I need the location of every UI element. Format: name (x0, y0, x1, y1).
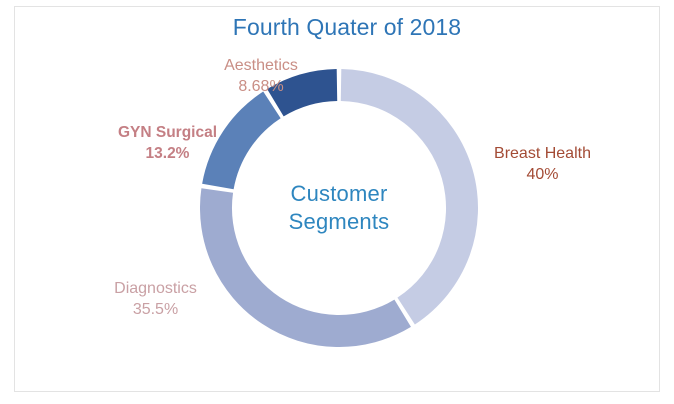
slice-label-gyn-surgical-value: 13.2% (100, 143, 235, 164)
slice-label-breast-health: Breast Health 40% (475, 143, 610, 185)
slice-label-gyn-surgical: GYN Surgical 13.2% (100, 122, 235, 164)
slice-label-diagnostics: Diagnostics 35.5% (88, 278, 223, 320)
slice-label-gyn-surgical-name: GYN Surgical (100, 122, 235, 143)
chart-title: Fourth Quater of 2018 (0, 14, 674, 41)
slice-label-diagnostics-name: Diagnostics (88, 278, 223, 299)
slice-label-aesthetics-value: 8.68% (196, 76, 326, 97)
chart-canvas: Fourth Quater of 2018 Customer Segments … (0, 0, 674, 404)
donut-center-label: Customer Segments (289, 180, 390, 236)
slice-label-breast-health-name: Breast Health (475, 143, 610, 164)
slice-label-diagnostics-value: 35.5% (88, 299, 223, 320)
slice-label-aesthetics: Aesthetics 8.68% (196, 55, 326, 97)
slice-label-breast-health-value: 40% (475, 164, 610, 185)
center-label-line-2: Segments (289, 208, 390, 236)
slice-label-aesthetics-name: Aesthetics (196, 55, 326, 76)
center-label-line-1: Customer (289, 180, 390, 208)
